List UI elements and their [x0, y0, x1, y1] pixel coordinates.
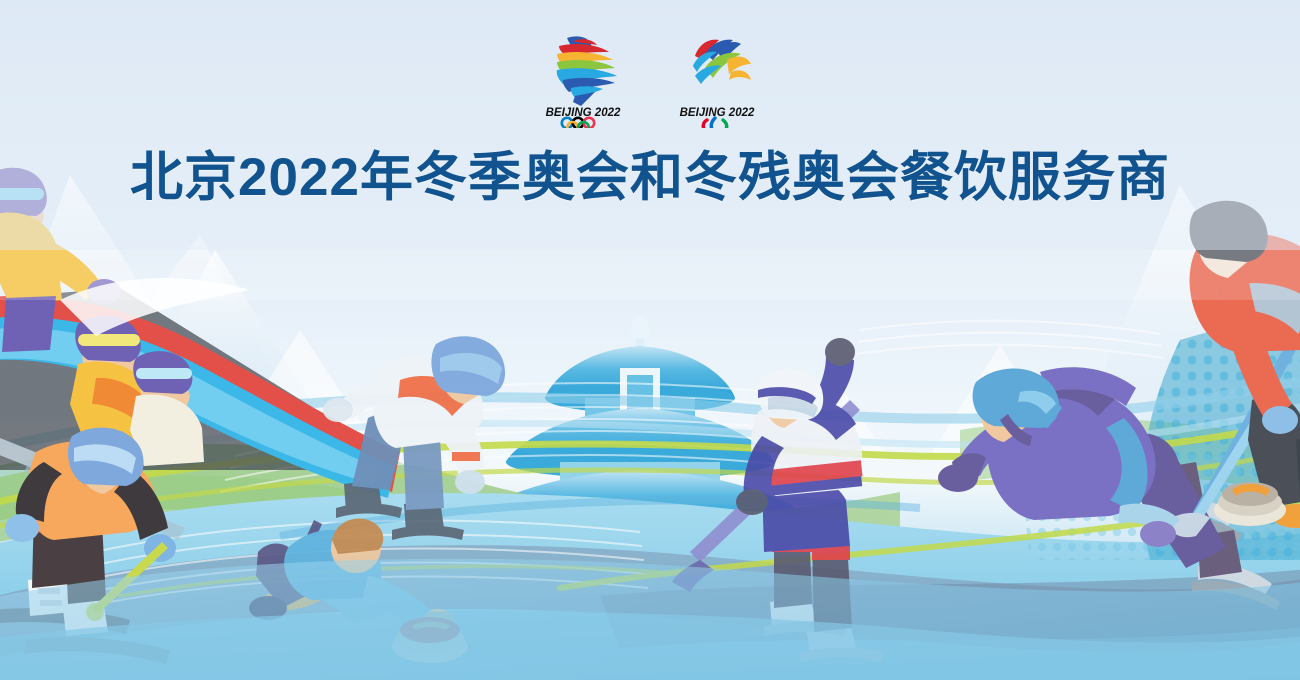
- beijing-2022-paralympic-emblem: BEIJING 2022: [671, 28, 763, 128]
- agitos-icon: [703, 118, 727, 128]
- paralympic-ribbon-icon: [693, 40, 751, 84]
- beijing-2022-catering-services-banner: BEIJING 2022 BEIJING 2022: [0, 0, 1300, 680]
- page-title: 北京2022年冬季奥会和冬残奥会餐饮服务商: [0, 146, 1300, 210]
- olympic-wordmark: BEIJING 2022: [546, 107, 621, 119]
- olympic-rings-icon: [562, 118, 594, 128]
- emblem-row: BEIJING 2022 BEIJING 2022: [0, 28, 1300, 128]
- paralympic-wordmark: BEIJING 2022: [680, 107, 755, 119]
- beijing-2022-olympic-emblem: BEIJING 2022: [537, 28, 629, 128]
- olympic-ribbon-icon: [557, 36, 617, 106]
